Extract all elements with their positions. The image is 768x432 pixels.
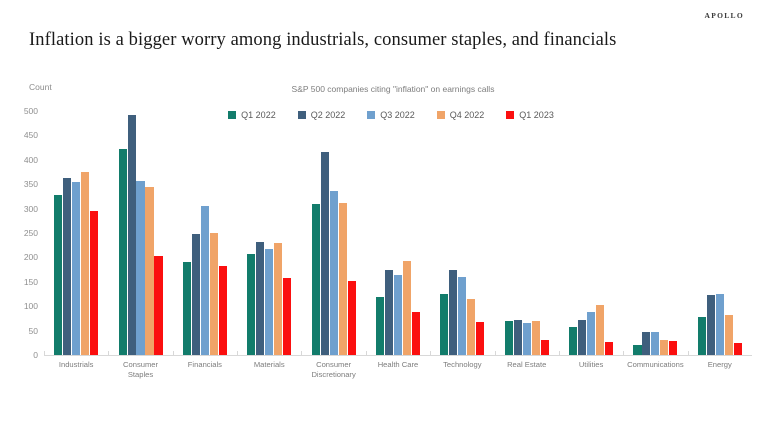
- x-axis-label: Consumer Staples: [108, 360, 172, 381]
- x-axis-label: Financials: [173, 360, 237, 381]
- y-tick-label: 400: [24, 155, 38, 165]
- y-tick-label: 0: [33, 350, 38, 360]
- y-tick-label: 100: [24, 301, 38, 311]
- bar[interactable]: [283, 278, 291, 355]
- y-tick-label: 150: [24, 277, 38, 287]
- bar[interactable]: [514, 320, 522, 355]
- x-axis-label: Consumer Discretionary: [301, 360, 365, 381]
- bar-group: [366, 111, 430, 355]
- bar[interactable]: [541, 340, 549, 355]
- bar-group: [237, 111, 301, 355]
- chart-subtitle: S&P 500 companies citing "inflation" on …: [0, 84, 768, 94]
- bar[interactable]: [348, 281, 356, 355]
- bar-group: [688, 111, 752, 355]
- bar[interactable]: [578, 320, 586, 355]
- bar[interactable]: [274, 243, 282, 355]
- bar[interactable]: [440, 294, 448, 355]
- chart-plot-area: 050100150200250300350400450500: [44, 111, 752, 356]
- bar[interactable]: [707, 295, 715, 355]
- bar[interactable]: [394, 275, 402, 355]
- bar[interactable]: [505, 321, 513, 355]
- y-tick-label: 200: [24, 252, 38, 262]
- bar[interactable]: [312, 204, 320, 355]
- bar[interactable]: [458, 277, 466, 355]
- bar[interactable]: [642, 332, 650, 355]
- bar[interactable]: [119, 149, 127, 355]
- bar[interactable]: [330, 191, 338, 355]
- bar[interactable]: [725, 315, 733, 355]
- bar[interactable]: [128, 115, 136, 355]
- bar[interactable]: [532, 321, 540, 355]
- bar[interactable]: [449, 270, 457, 355]
- y-tick-label: 250: [24, 228, 38, 238]
- bar[interactable]: [651, 332, 659, 355]
- bar-group: [495, 111, 559, 355]
- bar[interactable]: [339, 203, 347, 355]
- x-axis-label: Energy: [688, 360, 752, 381]
- bar[interactable]: [210, 233, 218, 355]
- bar[interactable]: [265, 249, 273, 355]
- bar[interactable]: [90, 211, 98, 355]
- x-axis-labels: IndustrialsConsumer StaplesFinancialsMat…: [44, 360, 752, 381]
- bar[interactable]: [587, 312, 595, 355]
- bar[interactable]: [403, 261, 411, 355]
- bar[interactable]: [192, 234, 200, 355]
- bar-group: [430, 111, 494, 355]
- bar[interactable]: [154, 256, 162, 355]
- bar[interactable]: [136, 181, 144, 355]
- bar[interactable]: [467, 299, 475, 355]
- bar[interactable]: [54, 195, 62, 355]
- bar[interactable]: [476, 322, 484, 355]
- bar-group: [173, 111, 237, 355]
- bar[interactable]: [734, 343, 742, 355]
- bar[interactable]: [63, 178, 71, 355]
- y-tick-label: 350: [24, 179, 38, 189]
- bar[interactable]: [596, 305, 604, 355]
- x-axis-label: Technology: [430, 360, 494, 381]
- x-axis-label: Utilities: [559, 360, 623, 381]
- bar[interactable]: [523, 323, 531, 355]
- bar[interactable]: [145, 187, 153, 355]
- bar[interactable]: [72, 182, 80, 355]
- y-tick-label: 500: [24, 106, 38, 116]
- y-tick-label: 300: [24, 204, 38, 214]
- bar[interactable]: [81, 172, 89, 355]
- bar-group: [623, 111, 687, 355]
- bar[interactable]: [669, 341, 677, 355]
- bar[interactable]: [256, 242, 264, 355]
- bar-group: [301, 111, 365, 355]
- bar[interactable]: [698, 317, 706, 355]
- bar-groups: [44, 111, 752, 355]
- bar[interactable]: [633, 345, 641, 355]
- bar[interactable]: [660, 340, 668, 355]
- bar[interactable]: [247, 254, 255, 355]
- bar[interactable]: [569, 327, 577, 355]
- bar-group: [44, 111, 108, 355]
- bar[interactable]: [376, 297, 384, 355]
- bar[interactable]: [183, 262, 191, 355]
- bar-group: [559, 111, 623, 355]
- y-tick-label: 50: [29, 326, 38, 336]
- brand-logo: APOLLO: [705, 11, 744, 20]
- bar[interactable]: [605, 342, 613, 355]
- bar[interactable]: [219, 266, 227, 355]
- bar-group: [108, 111, 172, 355]
- x-axis-line: [44, 355, 752, 356]
- bar[interactable]: [385, 270, 393, 355]
- x-axis-label: Health Care: [366, 360, 430, 381]
- bar[interactable]: [716, 294, 724, 355]
- bar[interactable]: [321, 152, 329, 355]
- x-axis-label: Communications: [623, 360, 687, 381]
- x-axis-label: Industrials: [44, 360, 108, 381]
- bar[interactable]: [201, 206, 209, 355]
- page-title: Inflation is a bigger worry among indust…: [29, 30, 616, 51]
- y-tick-label: 450: [24, 130, 38, 140]
- x-axis-label: Real Estate: [495, 360, 559, 381]
- bar[interactable]: [412, 312, 420, 355]
- x-axis-label: Materials: [237, 360, 301, 381]
